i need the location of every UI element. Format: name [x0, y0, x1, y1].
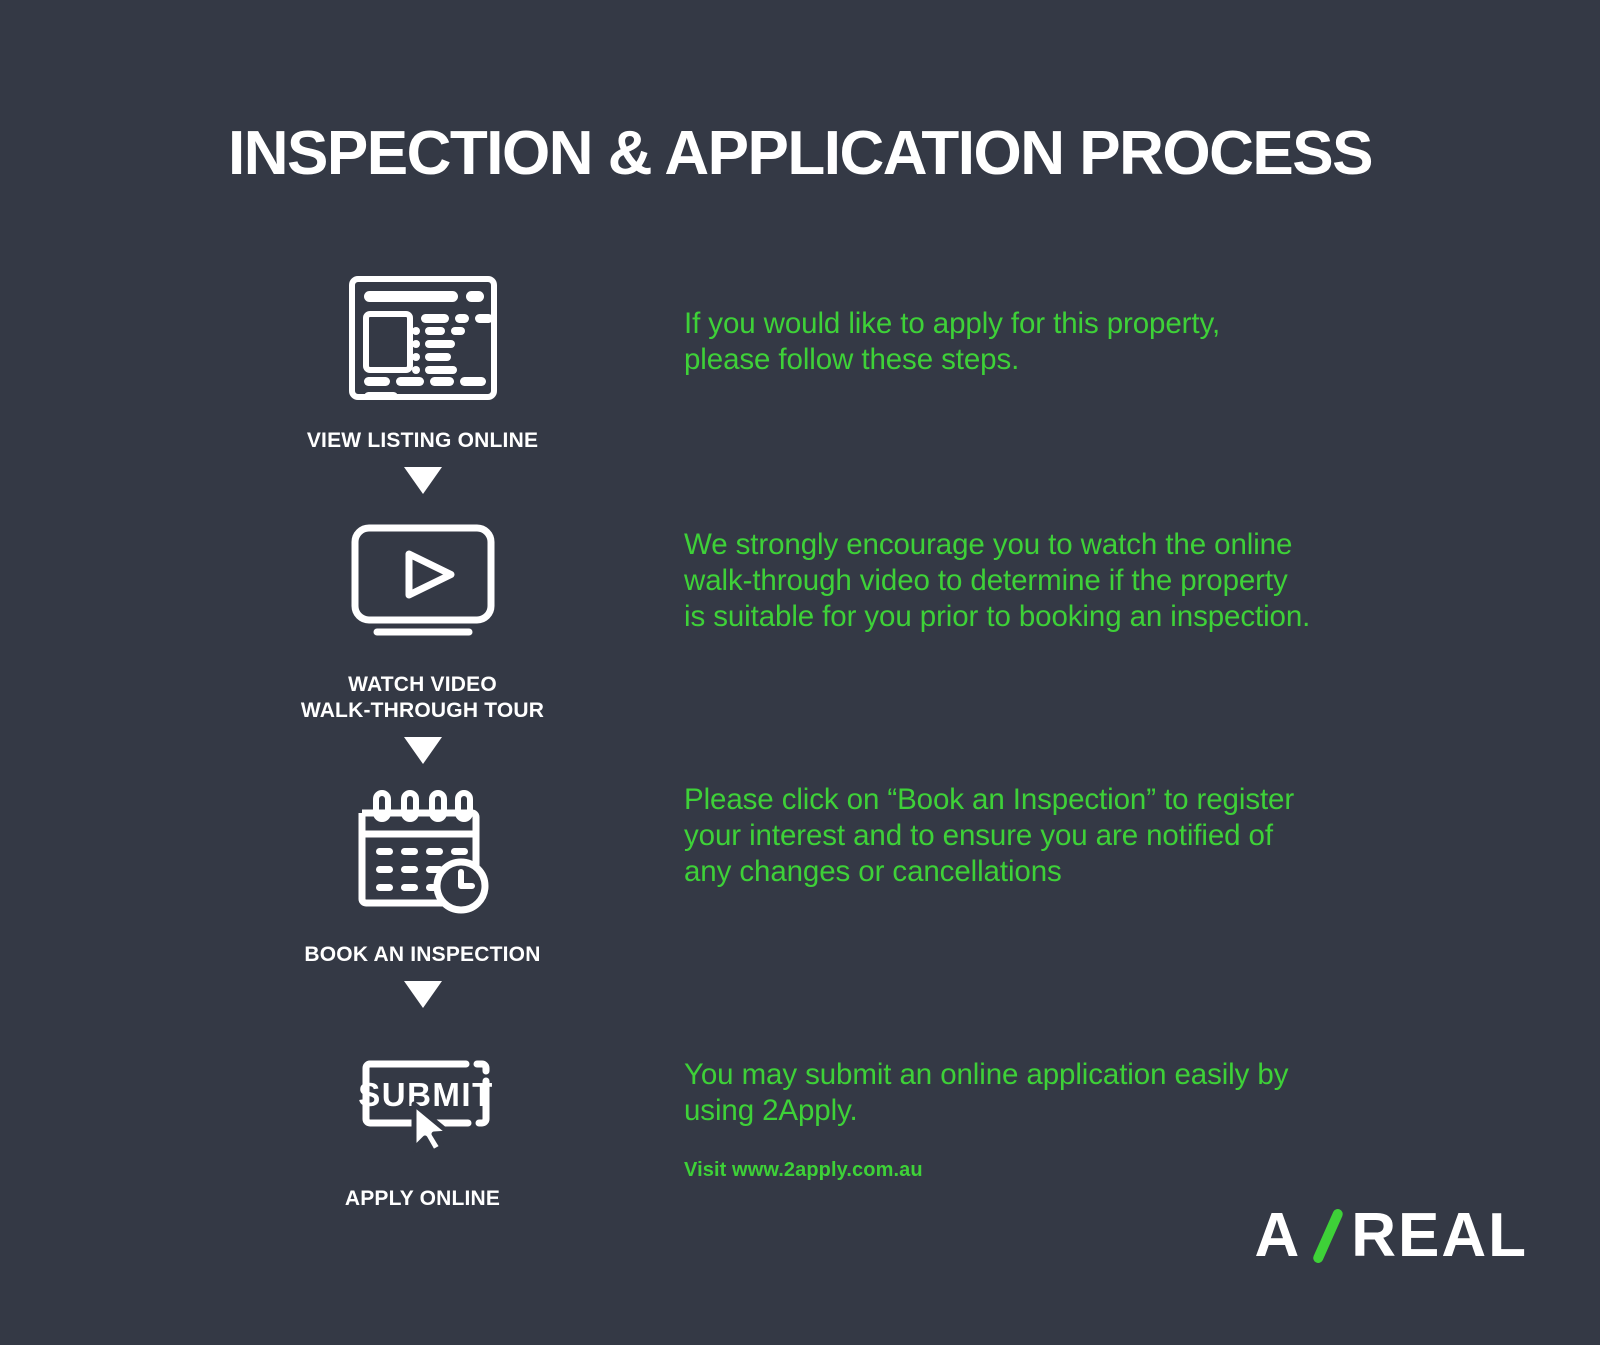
step-book-an-inspection: BOOK AN INSPECTION: [280, 776, 565, 968]
video-play-monitor-icon: [280, 506, 565, 658]
step-label: BOOK AN INSPECTION: [280, 942, 565, 968]
step-apply-online: SUBMIT APPLY ONLINE: [280, 1020, 565, 1212]
infographic-page: INSPECTION & APPLICATION PROCESS: [0, 0, 1600, 1345]
arrow-down-icon: [280, 724, 565, 776]
logo-letter-a: A: [1254, 1205, 1301, 1267]
step-view-listing-online: VIEW LISTING ONLINE: [280, 262, 565, 454]
browser-listing-icon: [280, 262, 565, 414]
process-steps: VIEW LISTING ONLINE WATCH VIDEO WALK-THR…: [280, 262, 565, 1212]
brand-logo: A REAL: [1254, 1205, 1528, 1267]
visit-website-link[interactable]: Visit www.2apply.com.au: [684, 1159, 923, 1182]
step-watch-video-walkthrough: WATCH VIDEO WALK-THROUGH TOUR: [280, 506, 565, 724]
step-label: APPLY ONLINE: [280, 1186, 565, 1212]
step-description-apply-online: You may submit an online application eas…: [684, 1057, 1444, 1129]
arrow-down-icon: [280, 968, 565, 1020]
submit-button-cursor-icon: SUBMIT: [280, 1020, 565, 1172]
step-label: WATCH VIDEO WALK-THROUGH TOUR: [280, 672, 565, 724]
step-description-book-inspection: Please click on “Book an Inspection” to …: [684, 782, 1444, 890]
submit-icon-text: SUBMIT: [358, 1076, 494, 1113]
logo-word-real: REAL: [1351, 1205, 1528, 1267]
arrow-down-icon: [280, 454, 565, 506]
step-description-view-listing: If you would like to apply for this prop…: [684, 306, 1444, 378]
step-label: VIEW LISTING ONLINE: [280, 428, 565, 454]
calendar-clock-icon: [280, 776, 565, 928]
step-description-watch-video: We strongly encourage you to watch the o…: [684, 527, 1444, 635]
page-title: INSPECTION & APPLICATION PROCESS: [0, 118, 1600, 189]
slash-icon: [1311, 1207, 1345, 1265]
